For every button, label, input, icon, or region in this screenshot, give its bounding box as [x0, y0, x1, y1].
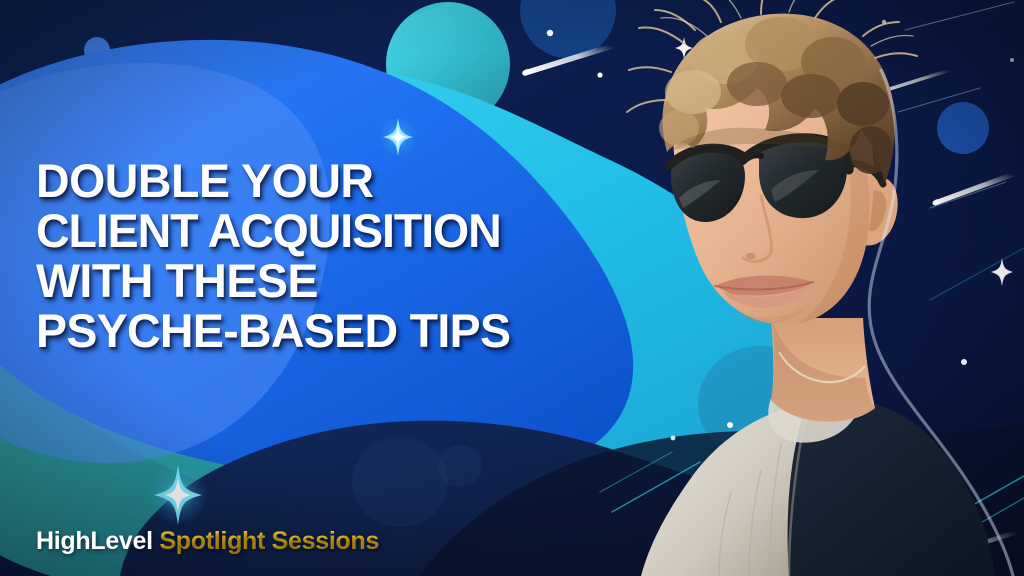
thumbnail-canvas: DOUBLE YOUR CLIENT ACQUISITION WITH THES…: [0, 0, 1024, 576]
speaker-photo: [575, 0, 1024, 576]
nostril: [746, 253, 756, 259]
